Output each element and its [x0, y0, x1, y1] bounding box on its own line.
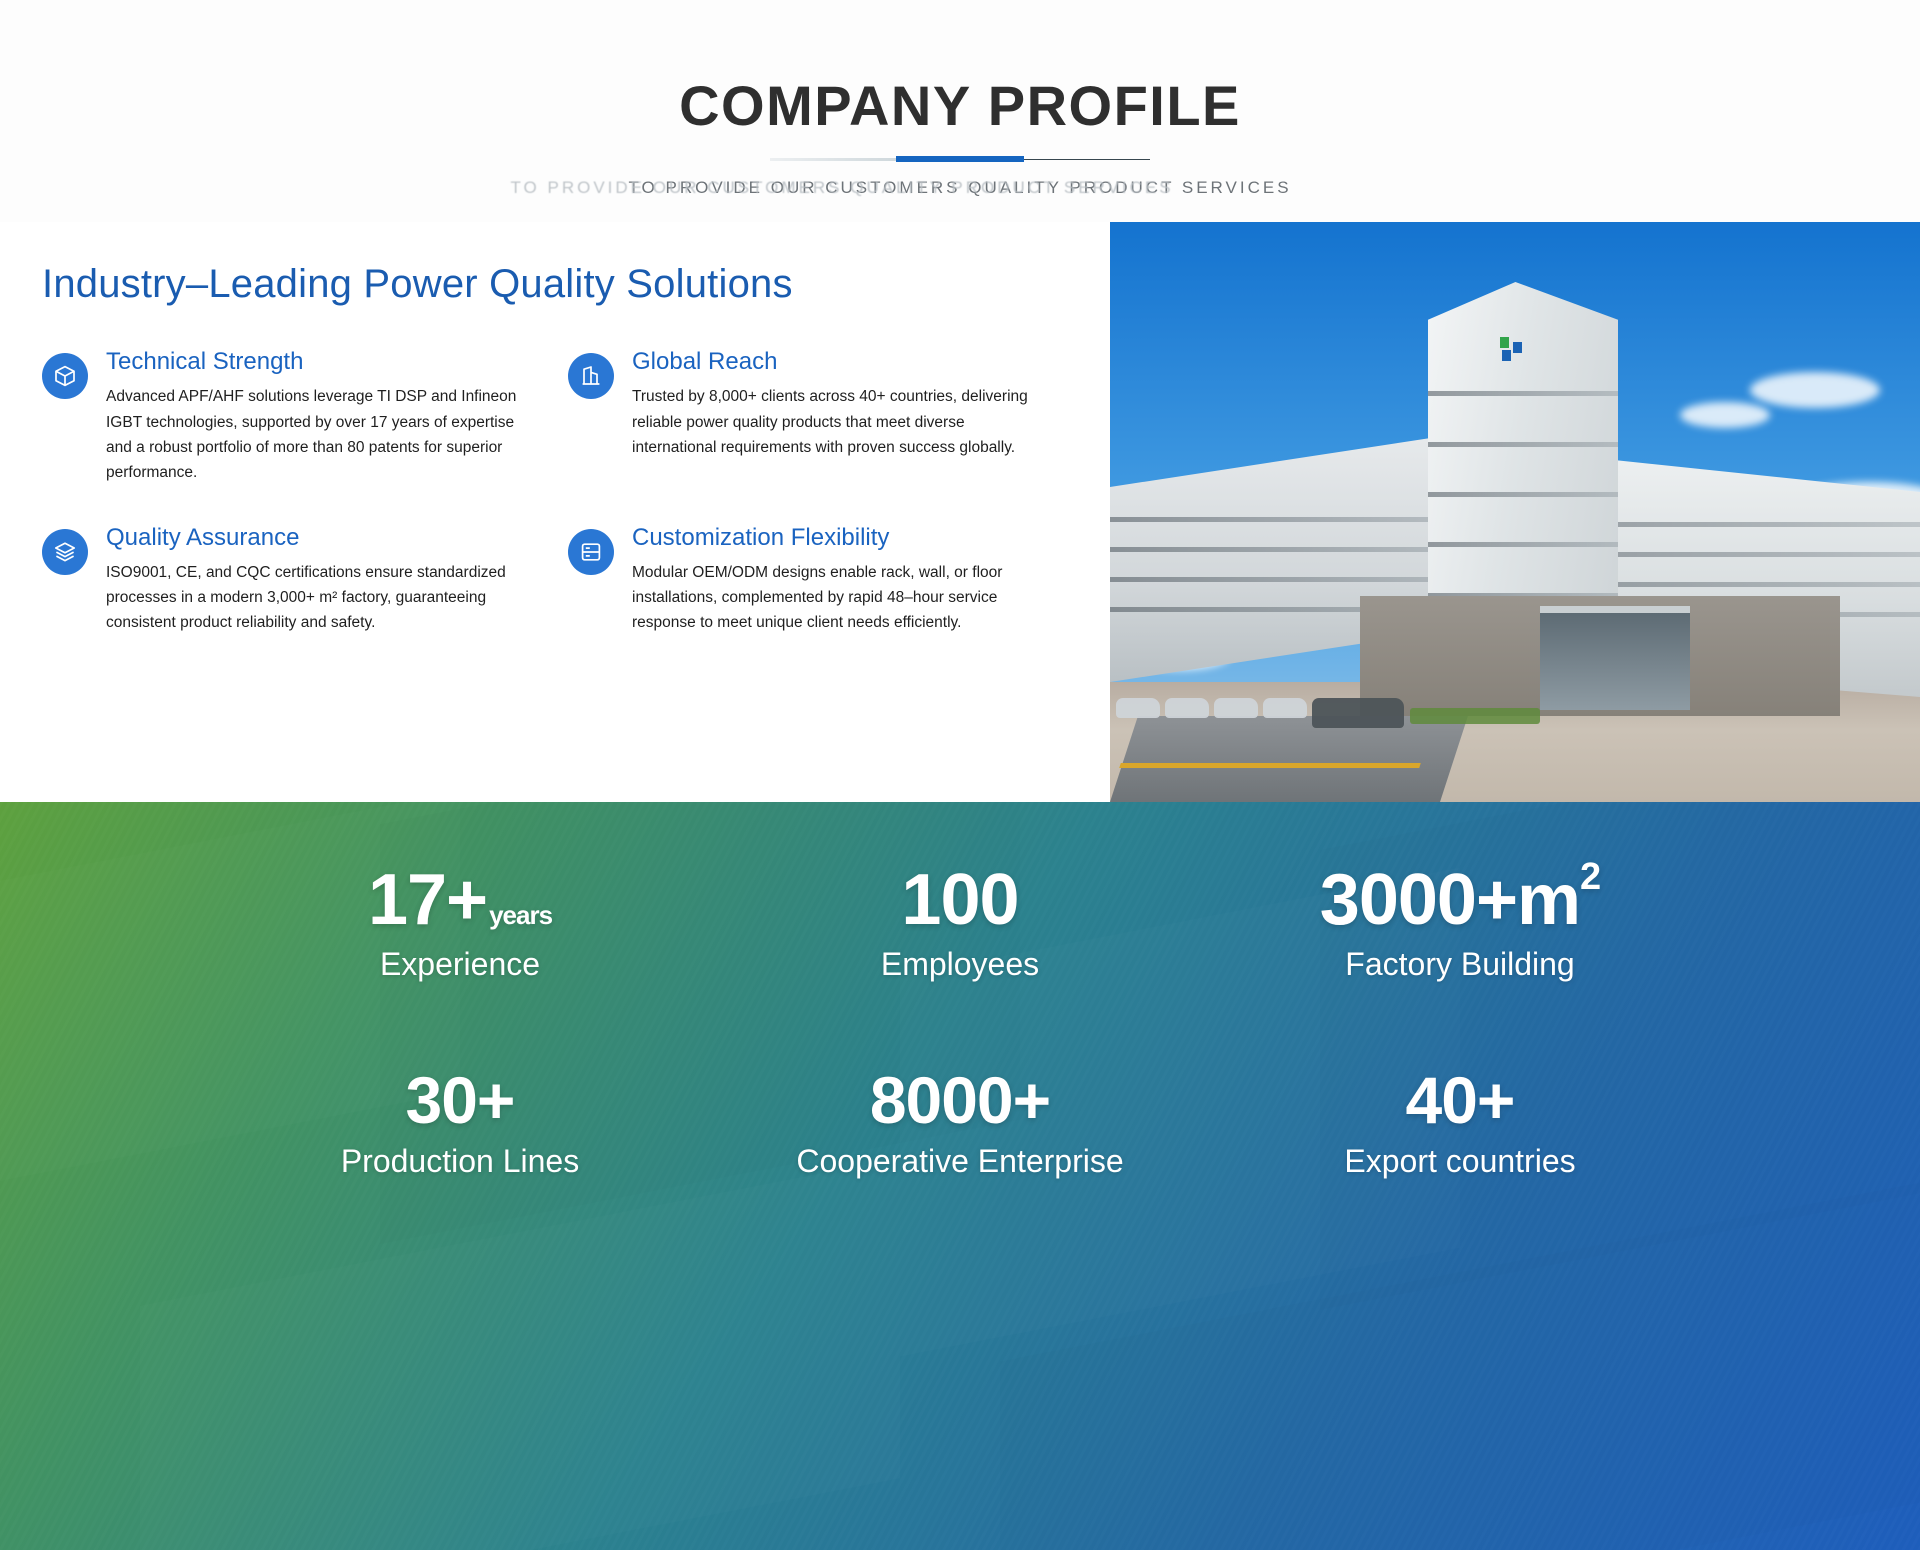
section-heading: Industry–Leading Power Quality Solutions [42, 262, 1050, 307]
cloud-shape [1750, 372, 1880, 408]
building-globe-icon [568, 353, 614, 399]
company-headquarters-photo [1110, 222, 1920, 802]
stat-production-lines: 30+ Production Lines [210, 1067, 710, 1180]
feature-text: ISO9001, CE, and CQC certifications ensu… [106, 560, 524, 635]
feature-title: Quality Assurance [106, 525, 524, 551]
parked-cars [1116, 698, 1404, 728]
stat-number: 17+ [368, 864, 487, 936]
feature-text: Trusted by 8,000+ clients across 40+ cou… [632, 384, 1050, 459]
cube-icon [42, 353, 88, 399]
stat-label: Factory Building [1210, 946, 1710, 983]
feature-technical-strength: Technical Strength Advanced APF/AHF solu… [42, 349, 524, 485]
car [1312, 698, 1404, 728]
feature-text: Advanced APF/AHF solutions leverage TI D… [106, 384, 524, 484]
divider-segment-right [1024, 159, 1150, 160]
stat-number: 40+ [1406, 1067, 1515, 1133]
lawn-strip [1410, 708, 1540, 724]
stat-label: Export countries [1210, 1143, 1710, 1180]
title-divider [770, 156, 1150, 162]
building-entrance [1540, 606, 1690, 710]
stat-number: 30+ [406, 1067, 515, 1133]
feature-title: Customization Flexibility [632, 525, 1050, 551]
stats-grid: 17+years Experience 100 Employees 3000+m… [210, 802, 1710, 1180]
stat-superscript: 2 [1580, 858, 1600, 896]
stat-label: Employees [710, 946, 1210, 983]
stat-number: 8000+ [870, 1067, 1050, 1133]
page-header: COMPANY PROFILE TO PROVIDE OUR CUSTOMERS… [0, 0, 1920, 222]
feature-global-reach: Global Reach Trusted by 8,000+ clients a… [568, 349, 1050, 485]
stat-export-countries: 40+ Export countries [1210, 1067, 1710, 1180]
feature-grid: Technical Strength Advanced APF/AHF solu… [42, 349, 1050, 636]
page-subtitle-render-artifact: TO PROVIDE OUR CUSTOMERS QUALITY PRODUCT… [0, 178, 1802, 198]
feature-customization-flexibility: Customization Flexibility Modular OEM/OD… [568, 525, 1050, 636]
photo-canvas [1110, 222, 1920, 802]
stat-number: 100 [901, 864, 1018, 936]
car [1214, 698, 1258, 718]
feature-title: Global Reach [632, 349, 1050, 375]
layers-icon [42, 529, 88, 575]
stat-label: Experience [210, 946, 710, 983]
stat-number: 3000+m [1320, 864, 1580, 936]
company-stats-band: 17+years Experience 100 Employees 3000+m… [0, 802, 1920, 1550]
feature-quality-assurance: Quality Assurance ISO9001, CE, and CQC c… [42, 525, 524, 636]
page-subtitle: TO PROVIDE OUR CUSTOMERS QUALITY PRODUCT… [0, 178, 1920, 202]
stat-number-wrap: 40+ [1406, 1067, 1515, 1133]
stat-number-wrap: 8000+ [870, 1067, 1050, 1133]
stat-label: Production Lines [210, 1143, 710, 1180]
profile-content: Industry–Leading Power Quality Solutions… [0, 222, 1110, 802]
divider-segment-left [770, 158, 896, 161]
road-marking [1119, 763, 1421, 768]
server-rack-icon [568, 529, 614, 575]
stat-suffix: years [489, 902, 552, 936]
profile-section: Industry–Leading Power Quality Solutions… [0, 222, 1920, 802]
stat-cooperative-enterprise: 8000+ Cooperative Enterprise [710, 1067, 1210, 1180]
building-logo [1500, 332, 1586, 366]
car [1165, 698, 1209, 718]
divider-segment-accent [896, 156, 1024, 162]
stat-number-wrap: 17+years [368, 864, 552, 936]
car [1263, 698, 1307, 718]
road [1110, 716, 1468, 802]
car [1116, 698, 1160, 718]
stat-experience: 17+years Experience [210, 864, 710, 983]
stat-number-wrap: 100 [901, 864, 1018, 936]
stat-label: Cooperative Enterprise [710, 1143, 1210, 1180]
feature-title: Technical Strength [106, 349, 524, 375]
stat-number-wrap: 30+ [406, 1067, 515, 1133]
stat-factory-building: 3000+m2 Factory Building [1210, 864, 1710, 983]
company-logo-mark [1500, 337, 1522, 361]
stat-number-wrap: 3000+m2 [1320, 864, 1600, 936]
page-title: COMPANY PROFILE [0, 0, 1920, 134]
feature-text: Modular OEM/ODM designs enable rack, wal… [632, 560, 1050, 635]
cloud-shape [1680, 402, 1770, 428]
stat-employees: 100 Employees [710, 864, 1210, 983]
